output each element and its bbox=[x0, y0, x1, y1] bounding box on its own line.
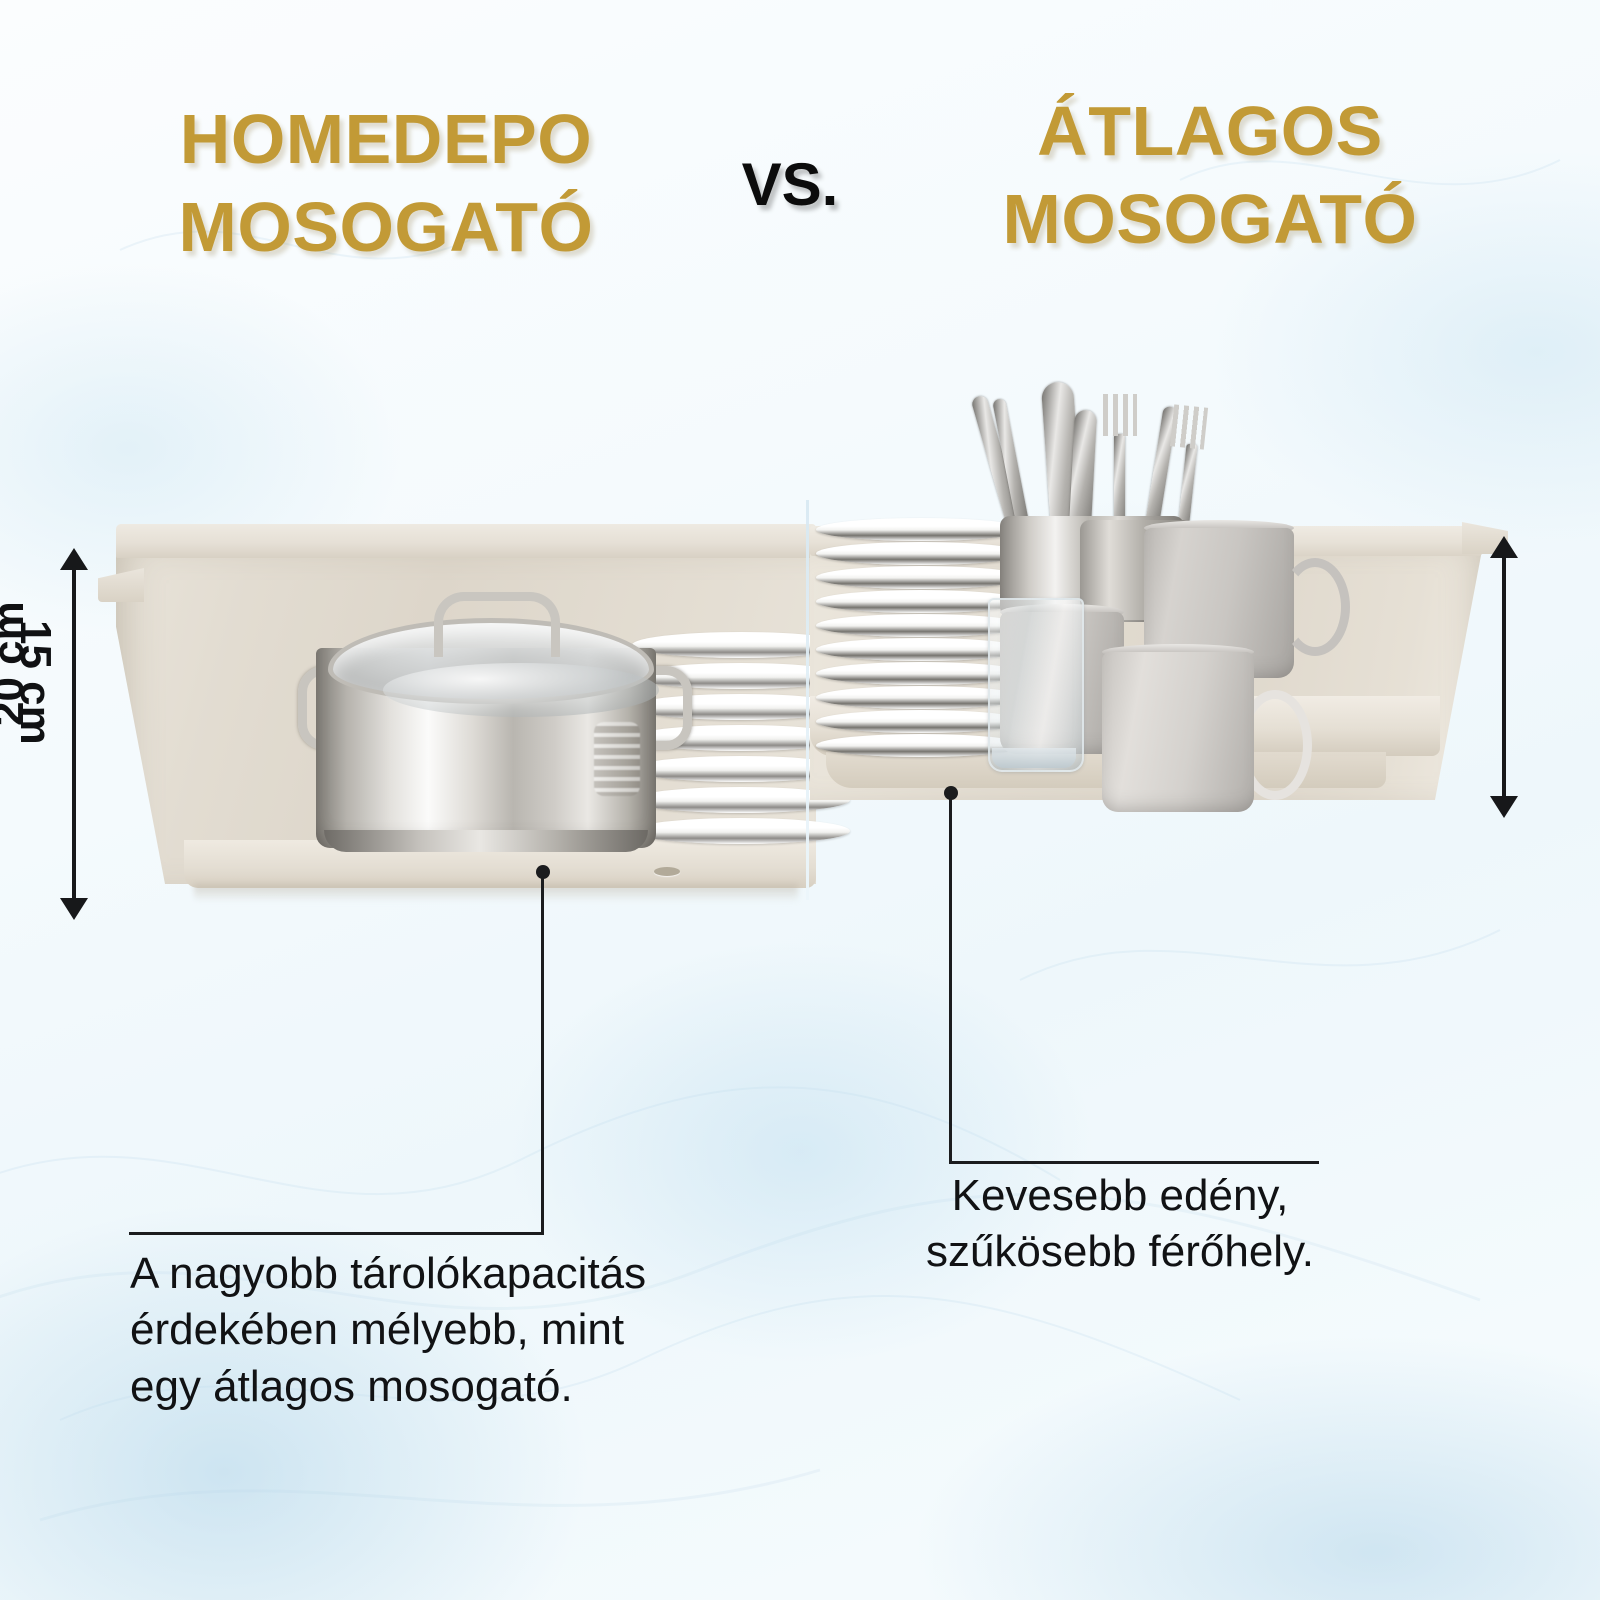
homedepo-sink-photo bbox=[98, 524, 818, 924]
vs-label: VS. bbox=[700, 150, 880, 219]
pot-reflection-ribs bbox=[594, 722, 640, 796]
arrow-head-down-icon bbox=[1490, 796, 1518, 818]
callout-horizontal-line bbox=[129, 1232, 544, 1235]
heading-right: ÁTLAGOS MOSOGATÓ bbox=[880, 96, 1540, 254]
fork-icon bbox=[1170, 404, 1208, 449]
pot-lid-handle bbox=[434, 592, 560, 657]
sink-left-rim bbox=[116, 524, 816, 558]
dimension-15cm-label: 15 cm bbox=[10, 620, 60, 745]
mug-front bbox=[1102, 652, 1254, 812]
heading-right-line2: MOSOGATÓ bbox=[880, 184, 1540, 254]
heading-right-line1: ÁTLAGOS bbox=[1037, 92, 1383, 170]
heading-left-line1: HOMEDEPO bbox=[180, 100, 592, 178]
drinking-glass-base bbox=[992, 748, 1076, 768]
callout-vertical-line bbox=[541, 872, 544, 1234]
heading-left: HOMEDEPO MOSOGATÓ bbox=[56, 104, 716, 262]
dimension-line bbox=[1502, 554, 1506, 804]
stockpot bbox=[298, 592, 674, 852]
center-divider bbox=[806, 500, 809, 900]
pot-base bbox=[324, 830, 648, 852]
fork-icon bbox=[1103, 394, 1137, 436]
caption-right: Kevesebb edény, szűkösebb férőhely. bbox=[900, 1168, 1340, 1281]
caption-left: A nagyobb tárolókapacitás érdekében mély… bbox=[130, 1246, 690, 1415]
drinking-glass bbox=[988, 598, 1084, 772]
comparison-infographic: HOMEDEPO MOSOGATÓ VS. ÁTLAGOS MOSOGATÓ bbox=[0, 0, 1600, 1600]
average-sink-photo bbox=[810, 500, 1500, 890]
pot-lid-glass-pane bbox=[383, 663, 659, 717]
mug-handle bbox=[1280, 558, 1350, 656]
arrow-head-down-icon bbox=[60, 898, 88, 920]
callout-vertical-line bbox=[949, 793, 952, 1163]
heading-left-line2: MOSOGATÓ bbox=[56, 192, 716, 262]
callout-horizontal-line bbox=[949, 1161, 1319, 1164]
dimension-line bbox=[72, 566, 76, 906]
sink-left-front-shadow bbox=[194, 884, 798, 902]
